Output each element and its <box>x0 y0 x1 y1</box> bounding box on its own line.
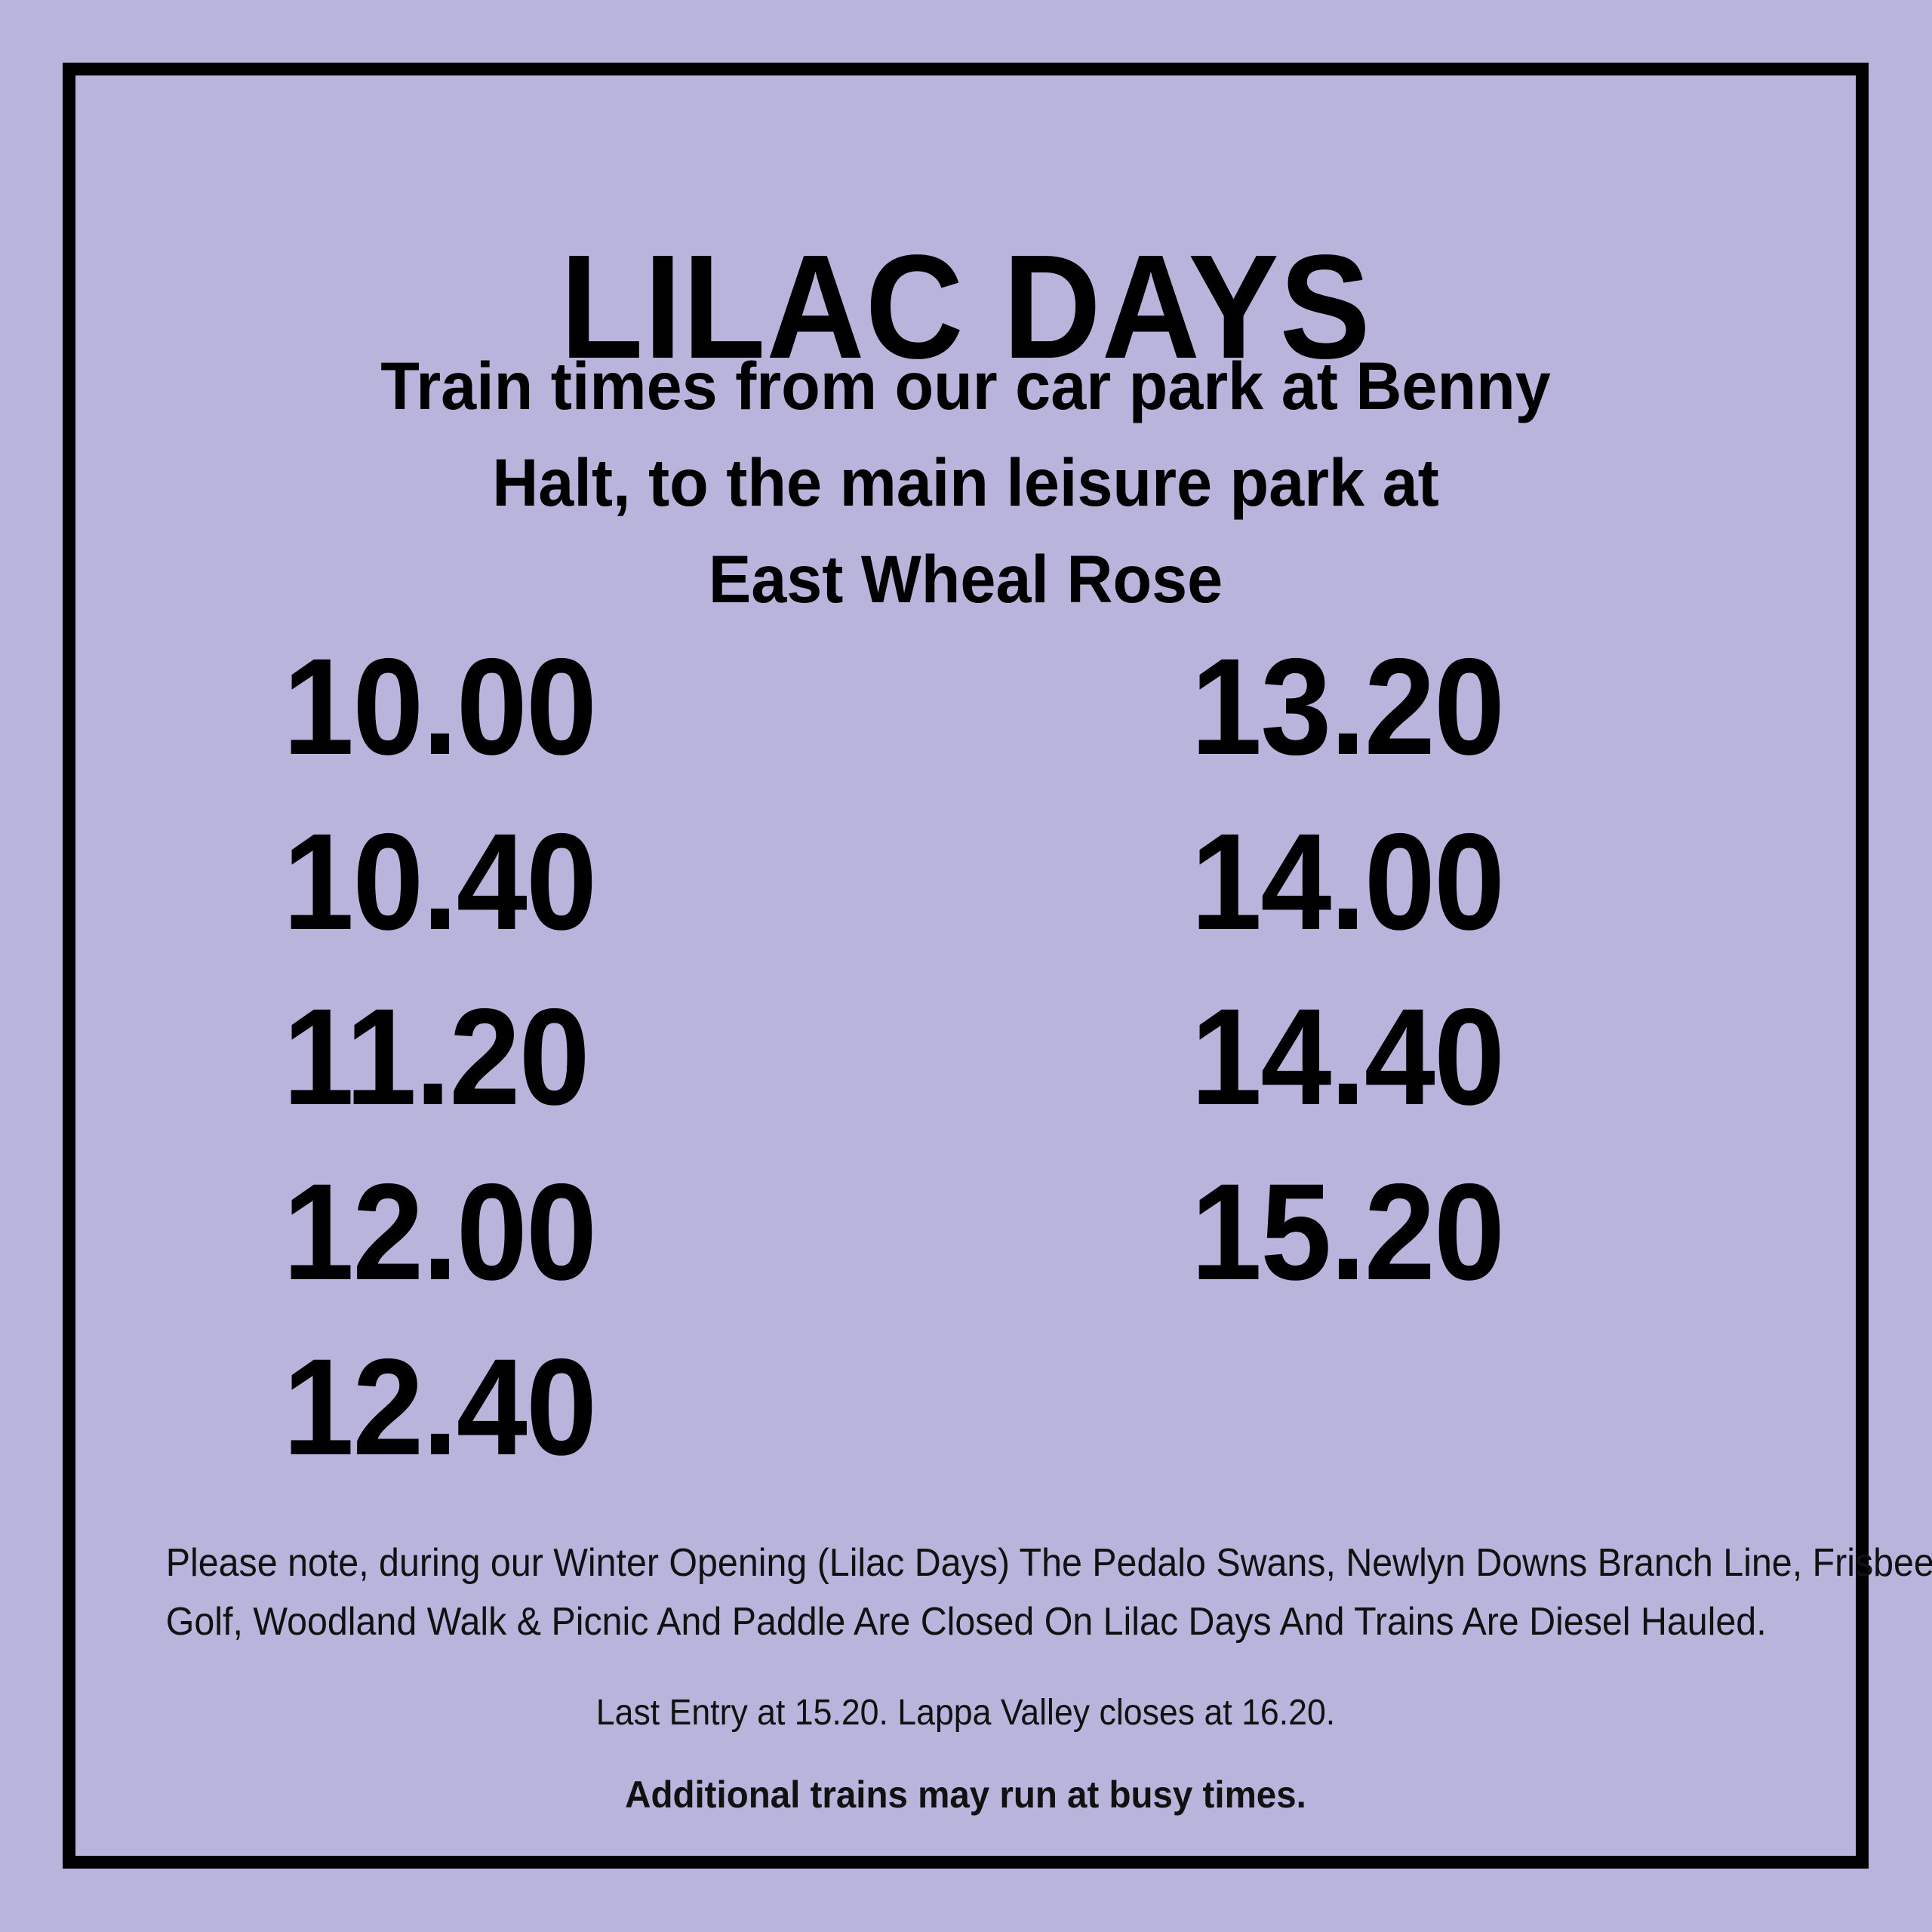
timetable-column-afternoon: 13.20 14.00 14.40 15.20 <box>1191 619 1932 1319</box>
additional-trains-note: Additional trains may run at busy times. <box>149 1772 1783 1817</box>
train-time: 12.00 <box>283 1144 985 1319</box>
train-time: 10.40 <box>283 794 985 969</box>
timetable-column-morning: 10.00 10.40 11.20 12.00 12.40 <box>283 619 1038 1494</box>
subtitle-line-1: Train times from our car park at Benny <box>120 337 1811 434</box>
winter-opening-note-line-2: Golf, Woodland Walk & Picnic And Paddle … <box>166 1592 1765 1651</box>
poster-content: LILAC DAYS Train times from our car park… <box>75 75 1856 1856</box>
train-time: 10.00 <box>283 619 985 794</box>
winter-opening-note: Please note, during our Winter Opening (… <box>166 1534 1765 1651</box>
poster-subtitle: Train times from our car park at Benny H… <box>120 337 1811 627</box>
winter-opening-note-line-1: Please note, during our Winter Opening (… <box>166 1534 1765 1592</box>
train-time: 14.00 <box>1191 794 1893 969</box>
train-time: 15.20 <box>1191 1144 1893 1319</box>
subtitle-line-3: East Wheal Rose <box>120 531 1811 627</box>
train-timetable: 10.00 10.40 11.20 12.00 12.40 13.20 14.0… <box>75 619 1856 1457</box>
subtitle-line-2: Halt, to the main leisure park at <box>120 434 1811 531</box>
train-time: 14.40 <box>1191 969 1893 1144</box>
train-time: 12.40 <box>283 1319 985 1494</box>
train-time: 13.20 <box>1191 619 1893 794</box>
poster-root: LILAC DAYS Train times from our car park… <box>0 0 1932 1932</box>
train-time: 11.20 <box>283 969 985 1144</box>
last-entry-note: Last Entry at 15.20. Lappa Valley closes… <box>166 1690 1765 1736</box>
